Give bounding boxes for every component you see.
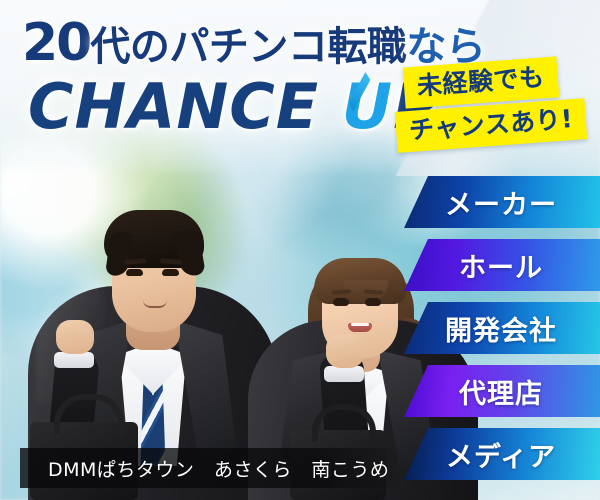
woman-eye-right (365, 298, 381, 306)
category-button-list: メーカー ホール 開発会社 代理店 メディア (404, 176, 600, 491)
man-hair (104, 210, 204, 268)
woman-shirt-cuff (324, 366, 364, 382)
logo-chance-text: CHANCE (28, 70, 319, 143)
caption-bar: DMMぱちタウン あさくら 南こうめ (20, 448, 402, 488)
brand-logo-chance-up: CHANCE U P (28, 76, 440, 138)
man-hand (56, 320, 94, 354)
woman-mouth (348, 323, 372, 332)
promo-badge: 未経験でも チャンスあり! (404, 62, 600, 166)
category-button-maker[interactable]: メーカー (404, 176, 600, 228)
category-button-development-company[interactable]: 開発会社 (404, 302, 600, 354)
woman-hand (326, 334, 364, 368)
category-label-maker: メーカー (445, 183, 559, 222)
category-label-agency: 代理店 (459, 372, 545, 411)
caption-text: DMMぱちタウン あさくら 南こうめ (20, 455, 389, 482)
category-label-development-company: 開発会社 (445, 309, 559, 348)
category-button-hall[interactable]: ホール (404, 239, 600, 291)
man-eye-right (162, 269, 179, 276)
category-button-agency[interactable]: 代理店 (404, 365, 600, 417)
woman-eye-left (333, 298, 349, 306)
headline-rest: 代のパチンコ転職 (90, 24, 406, 70)
logo-u-wrap: U (342, 76, 393, 138)
category-button-media[interactable]: メディア (404, 428, 600, 480)
ad-banner[interactable]: 20代のパチンコ転職なら CHANCE U P 未経験でも チャンスあり! メー… (0, 0, 600, 500)
category-label-media: メディア (446, 435, 558, 474)
woman-bangs (314, 258, 406, 304)
man-eye-left (126, 269, 143, 276)
man-shirt-cuff (54, 352, 94, 368)
headline-number: 20 (22, 13, 90, 73)
category-label-hall: ホール (459, 246, 545, 285)
